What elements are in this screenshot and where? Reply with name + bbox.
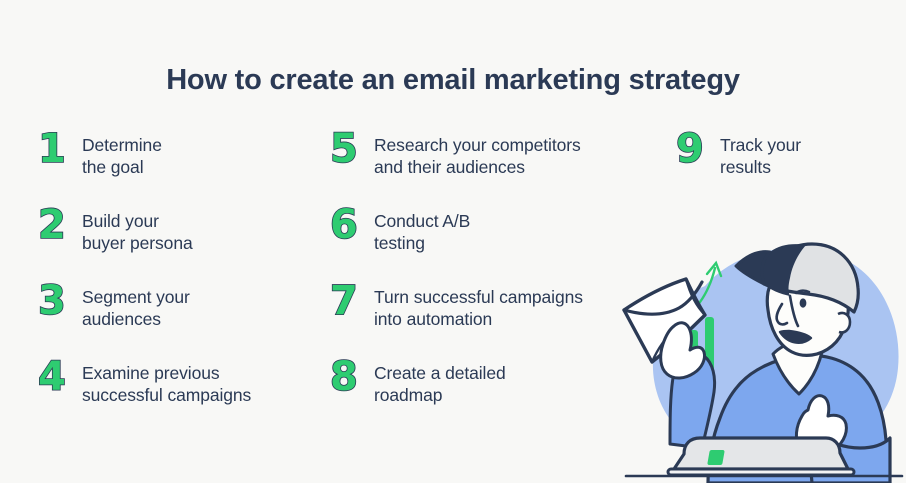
step-label-8: Create a detailedroadmap (374, 359, 650, 407)
step-label-4: Examine previoussuccessful campaigns (82, 359, 338, 407)
step-column-2: 5 Research your competitorsand their aud… (330, 131, 650, 435)
step-label-5: Research your competitorsand their audie… (374, 131, 650, 179)
step-item-7: 7 Turn successful campaignsinto automati… (330, 283, 650, 359)
infographic-canvas: How to create an email marketing strateg… (0, 0, 906, 483)
step-column-3: 9 Track yourresults (676, 131, 891, 207)
illustration-man-with-envelope-and-laptop (612, 222, 906, 483)
step-label-3: Segment youraudiences (82, 283, 338, 331)
step-item-4: 4 Examine previoussuccessful campaigns (38, 359, 338, 435)
step-number-3: 3 (38, 281, 74, 321)
step-label-9: Track yourresults (720, 131, 891, 179)
step-label-6: Conduct A/Btesting (374, 207, 650, 255)
step-label-2: Build yourbuyer persona (82, 207, 338, 255)
page-title: How to create an email marketing strateg… (0, 63, 906, 98)
step-label-1: Determinethe goal (82, 131, 338, 179)
step-number-6: 6 (330, 205, 366, 245)
step-number-1: 1 (38, 129, 74, 169)
step-item-8: 8 Create a detailedroadmap (330, 359, 650, 435)
eye (800, 298, 807, 307)
step-item-6: 6 Conduct A/Btesting (330, 207, 650, 283)
step-item-3: 3 Segment youraudiences (38, 283, 338, 359)
step-item-1: 1 Determinethe goal (38, 131, 338, 207)
step-label-7: Turn successful campaignsinto automation (374, 283, 650, 331)
step-number-8: 8 (330, 357, 366, 397)
ear (838, 313, 850, 332)
laptop (668, 438, 854, 475)
step-item-9: 9 Track yourresults (676, 131, 891, 207)
step-column-1: 1 Determinethe goal 2 Build yourbuyer pe… (38, 131, 338, 435)
step-number-5: 5 (330, 129, 366, 169)
step-number-4: 4 (38, 357, 74, 397)
step-item-5: 5 Research your competitorsand their aud… (330, 131, 650, 207)
laptop-logo (707, 450, 725, 465)
step-number-9: 9 (676, 129, 712, 169)
step-number-2: 2 (38, 205, 74, 245)
step-number-7: 7 (330, 281, 366, 321)
step-item-2: 2 Build yourbuyer persona (38, 207, 338, 283)
